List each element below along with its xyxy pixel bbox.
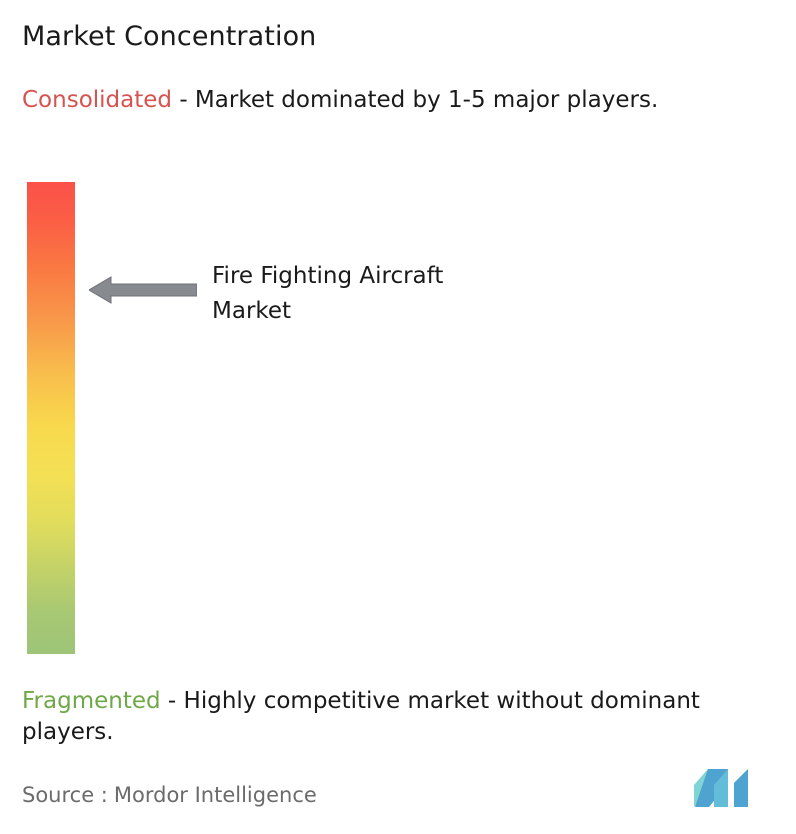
market-concentration-gradient-bar xyxy=(27,182,75,654)
source-line: Source :Mordor Intelligence xyxy=(22,781,317,809)
left-arrow-icon xyxy=(89,272,197,308)
callout-label-line2: Market xyxy=(212,298,291,324)
legend-consolidated-description: - Market dominated by 1-5 major players. xyxy=(172,87,658,113)
page-title: Market Concentration xyxy=(22,20,316,54)
source-label: Source : xyxy=(22,783,108,807)
logo-shape-5 xyxy=(734,769,748,807)
legend-fragmented-keyword: Fragmented xyxy=(22,688,161,714)
mordor-intelligence-logo xyxy=(694,769,756,807)
legend-consolidated: Consolidated - Market dominated by 1-5 m… xyxy=(22,85,774,116)
left-arrow-shape xyxy=(89,277,197,303)
source-value: Mordor Intelligence xyxy=(114,783,317,807)
legend-fragmented: Fragmented - Highly competitive market w… xyxy=(22,686,790,748)
legend-consolidated-keyword: Consolidated xyxy=(22,87,172,113)
callout-label-line1: Fire Fighting Aircraft xyxy=(212,263,443,289)
callout-label: Fire Fighting AircraftMarket xyxy=(212,259,632,329)
